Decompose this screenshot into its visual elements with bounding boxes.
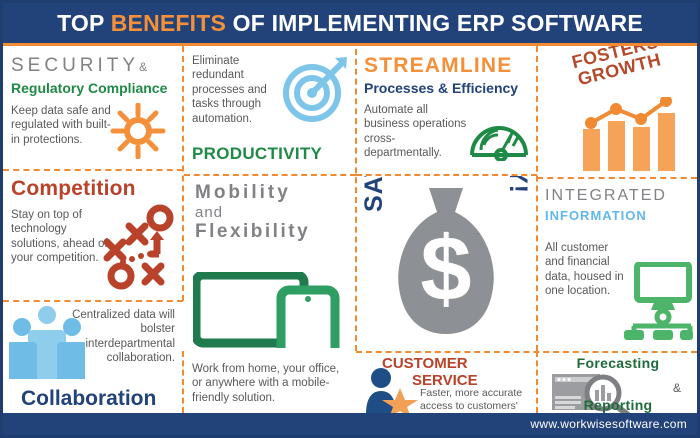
integrated-subheading: INFORMATION — [539, 205, 697, 223]
benefit-card-forecasting: Forecasting & — [539, 354, 697, 413]
benefit-card-competition: Competition Stay on top of technology so… — [3, 171, 181, 299]
bar-chart-growth-icon — [577, 97, 689, 176]
sun-gear-icon — [109, 103, 167, 164]
forecasting-heading-top: Forecasting — [539, 354, 697, 371]
save-money-heading-left: SAVE — [360, 176, 389, 212]
mobility-body-block: Work from home, your office, or anywhere… — [185, 354, 353, 413]
growth-heading: FOSTERS GROWTH — [545, 46, 690, 95]
customer-service-body: Faster, more accurate access to customer… — [420, 387, 534, 413]
integrated-heading: INTEGRATED — [539, 179, 697, 205]
strategy-xo-icon — [101, 204, 177, 297]
divider-vertical-3 — [536, 46, 538, 351]
collaboration-body: Centralized data will bolster interdepar… — [71, 308, 175, 366]
tablet-phone-icon — [193, 272, 343, 351]
benefit-card-save-money: SAVE MONEY! $ — [358, 176, 534, 351]
footer-url[interactable]: www.workwisesoftware.com — [530, 417, 697, 431]
title-highlight: BENEFITS — [111, 10, 226, 36]
footer-bar: www.workwisesoftware.com — [3, 413, 697, 435]
benefit-card-collaboration: Centralized data will bolster interdepar… — [3, 302, 181, 413]
security-heading: SECURITY& — [3, 46, 181, 77]
mobility-body: Work from home, your office, or anywhere… — [185, 354, 341, 405]
benefit-card-customer-service: CUSTOMER SERVICE Faster, more accurate a… — [358, 354, 534, 413]
divider-vertical-2 — [355, 49, 357, 351]
forecasting-heading-bottom: Reporting — [539, 397, 697, 413]
integrated-body: All customer and financial data, housed … — [539, 223, 627, 299]
benefit-card-integrated: INTEGRATED INFORMATION All customer and … — [539, 179, 697, 351]
person-star-icon — [360, 368, 418, 413]
benefit-card-productivity: Eliminate redundant processes and tasks … — [185, 46, 353, 168]
title-part2: OF IMPLEMENTING ERP SOFTWARE — [226, 10, 643, 36]
save-money-heading-right: MONEY! — [503, 176, 532, 194]
productivity-heading: PRODUCTIVITY — [192, 144, 322, 164]
mobility-heading-line1: Mobility — [195, 182, 353, 204]
streamline-subheading: Processes & Efficiency — [358, 78, 534, 96]
security-ampersand: & — [139, 60, 147, 74]
infographic-poster: TOP BENEFITS OF IMPLEMENTING ERP SOFTWAR… — [0, 0, 700, 438]
collaboration-heading: Collaboration — [21, 387, 156, 411]
benefit-card-mobility: Mobility and Flexibility — [185, 176, 353, 351]
benefit-card-growth: FOSTERS GROWTH — [539, 46, 697, 176]
svg-text:$: $ — [420, 218, 471, 320]
title-part1: TOP — [57, 10, 111, 36]
title-bar: TOP BENEFITS OF IMPLEMENTING ERP SOFTWAR… — [3, 3, 697, 43]
mobility-heading-line2: and — [195, 204, 353, 221]
security-subheading: Regulatory Compliance — [3, 77, 181, 96]
benefit-card-security: SECURITY& Regulatory Compliance Keep dat… — [3, 46, 181, 168]
competition-heading: Competition — [3, 171, 181, 201]
divider-horizontal-6 — [356, 351, 697, 353]
target-icon — [279, 52, 351, 129]
speedometer-icon — [468, 117, 530, 166]
streamline-heading: STREAMLINE — [358, 46, 534, 78]
forecasting-ampersand: & — [673, 381, 681, 395]
page-title: TOP BENEFITS OF IMPLEMENTING ERP SOFTWAR… — [57, 10, 643, 37]
benefit-card-streamline: STREAMLINE Processes & Efficiency Automa… — [358, 46, 534, 168]
security-heading-text: SECURITY — [11, 55, 139, 76]
productivity-body: Eliminate redundant processes and tasks … — [185, 46, 289, 126]
divider-vertical-4 — [182, 351, 184, 413]
money-bag-icon: $ — [393, 182, 499, 347]
mobility-heading: Mobility and Flexibility — [185, 176, 353, 243]
network-monitor-icon — [621, 262, 693, 345]
streamline-body: Automate all business operations cross-d… — [358, 96, 468, 161]
divider-vertical-5 — [536, 351, 538, 413]
security-body: Keep data safe and regulated with built-… — [3, 96, 115, 147]
mobility-heading-line3: Flexibility — [195, 221, 353, 243]
competition-body: Stay on top of technology solutions, ahe… — [3, 201, 108, 266]
benefits-grid: SECURITY& Regulatory Compliance Keep dat… — [3, 46, 697, 413]
